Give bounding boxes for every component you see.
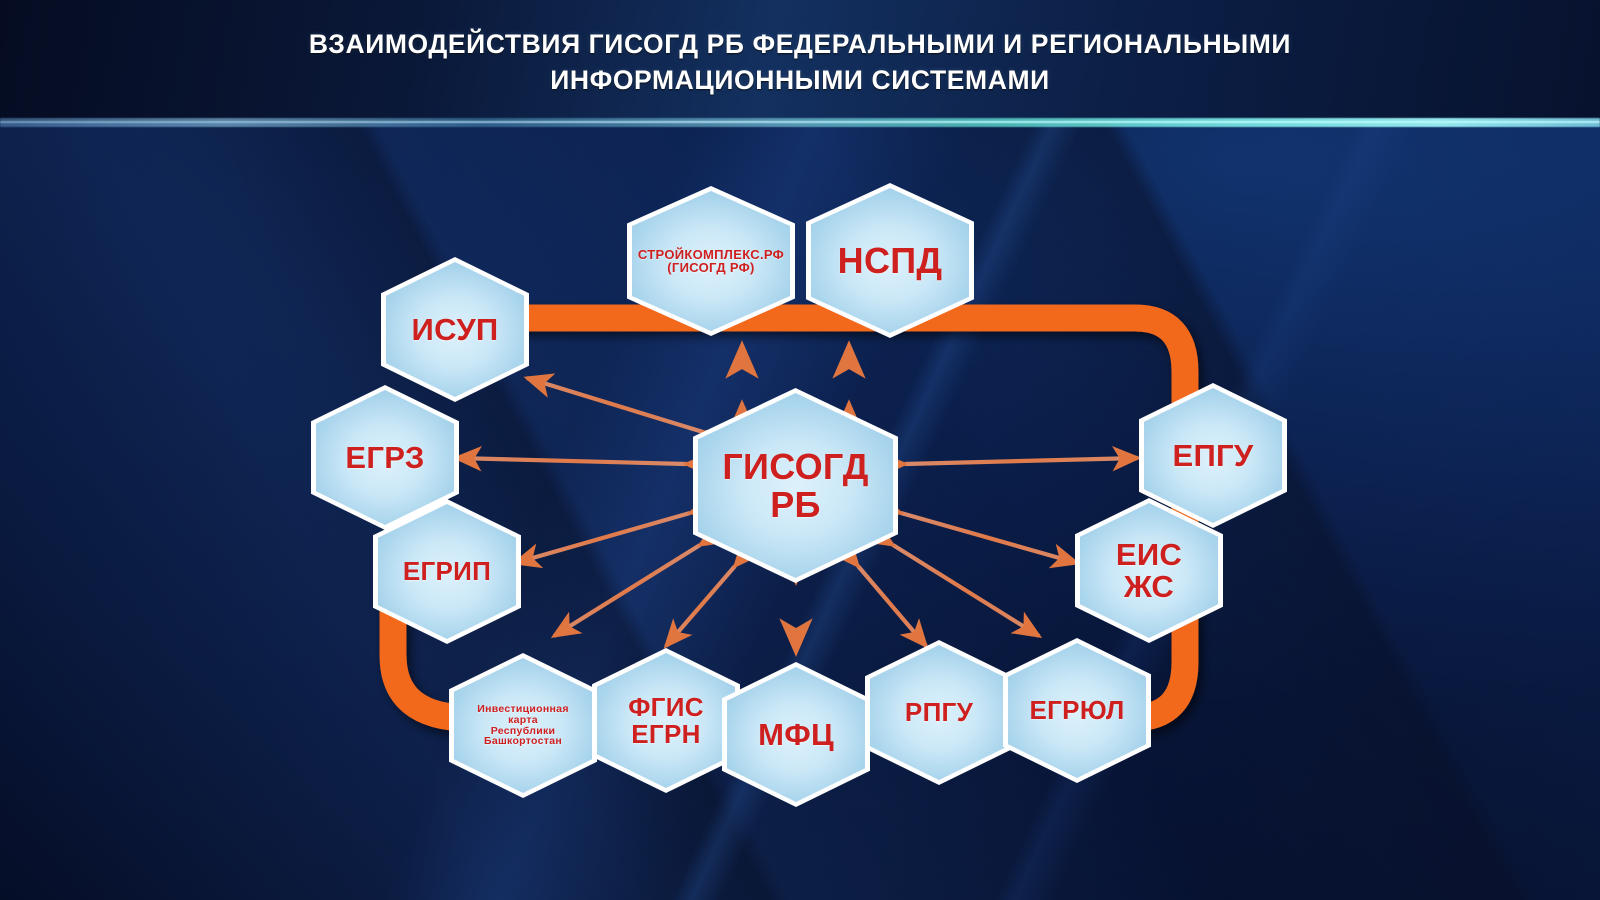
- node-label: ГИСОГД РБ: [716, 448, 874, 522]
- arrow-gisogd-egrip: [515, 513, 690, 563]
- node-label: ЕПГУ: [1166, 440, 1259, 472]
- node-label: РПГУ: [899, 699, 979, 726]
- page-title-line-1: ВЗАИМОДЕЙСТВИЯ ГИСОГД РБ ФЕДЕРАЛЬНЫМИ И …: [0, 26, 1600, 62]
- node-label: Инвестиционная карта Республики Башкорто…: [471, 704, 575, 747]
- node-label: СТРОЙКОМПЛЕКС.РФ (ГИСОГД РФ): [632, 248, 790, 275]
- page-title-line-2: ИНФОРМАЦИОННЫМИ СИСТЕМАМИ: [0, 62, 1600, 98]
- arrow-gisogd-investkarta: [554, 545, 700, 636]
- arrow-gisogd-eis-zhs: [901, 513, 1077, 563]
- node-label: ЕГРЗ: [339, 442, 430, 474]
- arrow-gisogd-fgis-egrn: [666, 566, 735, 646]
- arrow-gisogd-egryul: [893, 545, 1039, 636]
- node-label: ФГИС ЕГРН: [622, 694, 710, 748]
- node-label: ЕИС ЖС: [1110, 539, 1188, 603]
- title-block: ВЗАИМОДЕЙСТВИЯ ГИСОГД РБ ФЕДЕРАЛЬНЫМИ И …: [0, 26, 1600, 98]
- node-label: ЕГРИП: [397, 558, 497, 585]
- node-label: ИСУП: [405, 314, 504, 346]
- arrow-gisogd-isup: [527, 378, 703, 432]
- node-label: МФЦ: [752, 719, 840, 751]
- node-label: ЕГРЮЛ: [1024, 697, 1131, 724]
- arrow-gisogd-rpgu: [858, 566, 926, 646]
- header-divider: [0, 118, 1600, 127]
- slide-root: ВЗАИМОДЕЙСТВИЯ ГИСОГД РБ ФЕДЕРАЛЬНЫМИ И …: [0, 0, 1600, 900]
- slide-header: ВЗАИМОДЕЙСТВИЯ ГИСОГД РБ ФЕДЕРАЛЬНЫМИ И …: [0, 0, 1600, 122]
- arrow-gisogd-epgu: [905, 458, 1138, 464]
- arrow-gisogd-egrz: [456, 458, 686, 464]
- node-label: НСПД: [832, 242, 949, 279]
